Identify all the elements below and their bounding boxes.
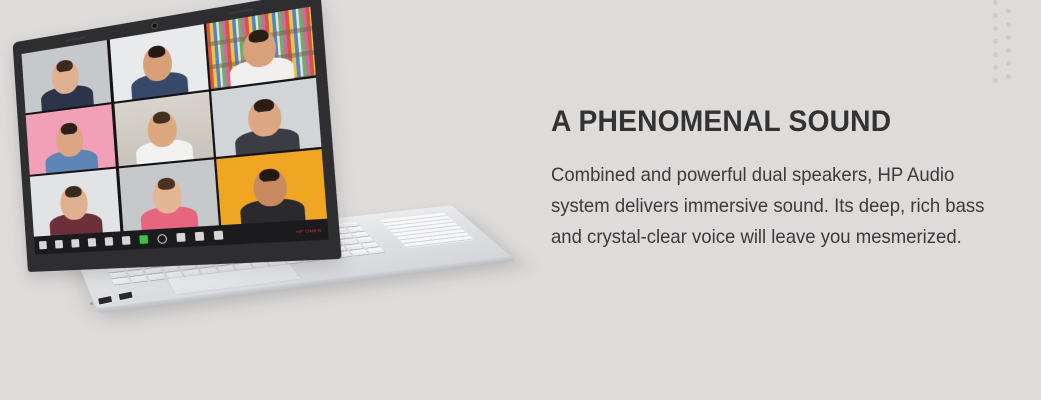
dot (1006, 9, 1011, 14)
dot (993, 0, 998, 5)
participant-avatar (227, 22, 294, 88)
dot (993, 65, 998, 70)
laptop-screen: HP OMEN (22, 7, 329, 255)
participant-avatar (43, 118, 98, 175)
dot (993, 13, 998, 18)
participant-avatar (39, 54, 94, 113)
participant-avatar (138, 173, 199, 231)
microphone-grille-left (65, 36, 86, 42)
participant-avatar (232, 93, 299, 157)
dot (1006, 74, 1011, 79)
hair (147, 44, 165, 59)
dot (993, 78, 998, 83)
hair (65, 185, 82, 198)
video-tile[interactable] (211, 78, 321, 157)
hp-logo-icon[interactable] (157, 233, 167, 243)
security-icon[interactable] (139, 235, 148, 244)
people-icon[interactable] (105, 237, 114, 246)
folder-icon[interactable] (214, 231, 224, 240)
numpad-area (379, 213, 475, 249)
task-view-icon[interactable] (88, 238, 96, 247)
screen-brand-mark: HP OMEN (296, 227, 322, 234)
dot (1006, 61, 1011, 66)
hair (157, 177, 176, 191)
page-title: A PHENOMENAL SOUND (551, 106, 976, 138)
video-tile[interactable] (26, 104, 116, 174)
glasses-icon (64, 132, 75, 136)
key (130, 276, 148, 283)
webcam-icon (152, 23, 157, 28)
video-tile[interactable] (216, 150, 327, 226)
laptop-illustration: HP OMEN (0, 0, 540, 400)
head (59, 185, 88, 221)
dot (1006, 35, 1011, 40)
participant-avatar (47, 182, 102, 237)
key (147, 274, 165, 281)
dot (993, 52, 998, 57)
video-tile[interactable] (114, 92, 213, 166)
glasses-icon (59, 69, 70, 73)
participant-avatar (237, 164, 305, 225)
dot-column-right (1006, 9, 1012, 87)
usb-port-2 (117, 290, 133, 301)
video-tile[interactable] (206, 7, 316, 89)
glasses-icon (258, 110, 271, 114)
video-tile[interactable] (118, 160, 218, 231)
video-tile[interactable] (22, 40, 112, 113)
indicator-led (90, 302, 94, 306)
taskbar-spacer (233, 232, 285, 235)
participant-avatar (133, 106, 194, 166)
laptop-lid: HP OMEN (12, 0, 341, 272)
search-icon[interactable] (55, 240, 63, 249)
key (112, 278, 130, 285)
hair (152, 111, 171, 125)
dot (1006, 48, 1011, 53)
dot (1006, 22, 1011, 27)
key (367, 248, 385, 254)
copy-block: A PHENOMENAL SOUND Combined and powerful… (551, 106, 1003, 253)
promo-banner: HP OMEN A PHENOMENAL SOUND Combined and … (0, 0, 1041, 400)
video-tile[interactable] (109, 24, 208, 101)
key (350, 250, 368, 256)
dot (993, 39, 998, 44)
start-icon[interactable] (39, 241, 47, 249)
chat-icon[interactable] (176, 233, 185, 242)
camera-icon[interactable] (71, 239, 79, 248)
body-paragraph: Combined and powerful dual speakers, HP … (551, 160, 998, 253)
dot-column-left (993, 0, 999, 91)
participant-avatar (128, 39, 189, 101)
microphone-grille-right (228, 8, 254, 14)
usb-port-1 (97, 295, 113, 306)
video-tile[interactable] (30, 169, 120, 237)
dot-grid-decoration (988, 0, 1022, 95)
glasses-icon (263, 180, 276, 184)
mail-icon[interactable] (195, 232, 204, 241)
dot (993, 26, 998, 31)
contacts-icon[interactable] (122, 236, 131, 245)
hair (248, 28, 268, 44)
